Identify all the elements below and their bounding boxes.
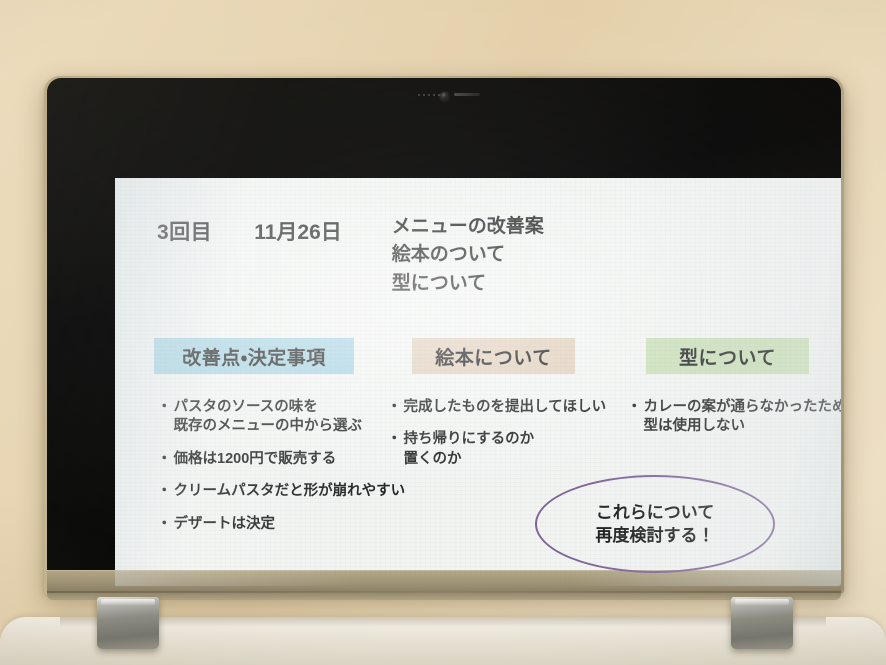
bullet-marker: ・ xyxy=(387,398,402,417)
column-title-picturebook: 絵本について xyxy=(412,338,575,374)
meeting-date: 11月26日 xyxy=(254,216,342,246)
annotation-line: これらについて xyxy=(596,501,715,524)
bullet-line: 置くのか xyxy=(404,450,535,469)
column-mold: ・ カレーの案が通らなかったため 型は使用しない xyxy=(627,398,841,450)
topic-item: メニューの改善案 xyxy=(392,216,544,237)
webcam-module xyxy=(402,89,486,103)
bullet-item: ・ カレーの案が通らなかったため 型は使用しない xyxy=(627,398,841,437)
bullet-item: ・ デザートは決定 xyxy=(157,515,407,534)
bullet-line: デザートは決定 xyxy=(174,515,276,534)
bullet-marker: ・ xyxy=(157,450,172,469)
topic-item: 絵本のついて xyxy=(392,244,544,265)
bullet-marker: ・ xyxy=(157,515,172,534)
bullet-line: 持ち帰りにするのか xyxy=(404,430,535,449)
photo-scene: 3回目 11月26日 メニューの改善案 絵本のついて 型について 改善点・決定事… xyxy=(0,0,886,665)
column-title-bars: 改善点・決定事項 絵本について 型について xyxy=(115,338,841,378)
hinge-left xyxy=(97,597,159,649)
bullet-marker: ・ xyxy=(387,430,402,469)
webcam-icon xyxy=(440,92,449,101)
column-picturebook: ・ 完成したものを提出してほしい ・ 持ち帰りにするのか 置くのか xyxy=(387,398,625,482)
screen-bezel: 3回目 11月26日 メニューの改善案 絵本のついて 型について 改善点・決定事… xyxy=(47,78,841,586)
column-title-mold: 型について xyxy=(646,338,809,374)
column-title-improvements: 改善点・決定事項 xyxy=(154,338,354,374)
bullet-item: ・ クリームパスタだと形が崩れやすい xyxy=(157,482,407,501)
hinge-right xyxy=(731,597,793,649)
bullet-line: 既存のメニューの中から選ぶ xyxy=(174,417,363,436)
base-shadow xyxy=(60,617,826,627)
bullet-marker: ・ xyxy=(157,482,172,501)
bullet-item: ・ 完成したものを提出してほしい xyxy=(387,398,625,417)
bullet-line: 完成したものを提出してほしい xyxy=(404,398,607,417)
sensor-strip-icon xyxy=(454,93,480,96)
presentation-slide: 3回目 11月26日 メニューの改善案 絵本のついて 型について 改善点・決定事… xyxy=(115,178,841,586)
ellipse-annotation: これらについて 再度検討する！ xyxy=(535,475,775,573)
bullet-item: ・ 価格は1200円で販売する xyxy=(157,450,407,469)
bullet-line: 型は使用しない xyxy=(644,417,842,436)
topic-list: メニューの改善案 絵本のついて 型について xyxy=(392,216,544,294)
meeting-number: 3回目 xyxy=(157,216,212,246)
microphone-grille-icon xyxy=(418,94,448,96)
annotation-line: 再度検討する！ xyxy=(596,524,715,547)
laptop-screen[interactable]: 3回目 11月26日 メニューの改善案 絵本のついて 型について 改善点・決定事… xyxy=(115,178,841,586)
slide-header: 3回目 11月26日 メニューの改善案 絵本のついて 型について xyxy=(157,216,544,294)
bullet-line: パスタのソースの味を xyxy=(174,398,363,417)
bullet-item: ・ パスタのソースの味を 既存のメニューの中から選ぶ xyxy=(157,398,407,437)
bullet-line: 価格は1200円で販売する xyxy=(174,450,337,469)
bullet-line: クリームパスタだと形が崩れやすい xyxy=(174,482,406,501)
topic-item: 型について xyxy=(392,273,544,294)
bullet-item: ・ 持ち帰りにするのか 置くのか xyxy=(387,430,625,469)
bullet-line: カレーの案が通らなかったため xyxy=(644,398,842,417)
bullet-marker: ・ xyxy=(627,398,642,437)
column-improvements: ・ パスタのソースの味を 既存のメニューの中から選ぶ ・ 価格は1200円で販売… xyxy=(157,398,407,547)
bullet-marker: ・ xyxy=(157,398,172,437)
